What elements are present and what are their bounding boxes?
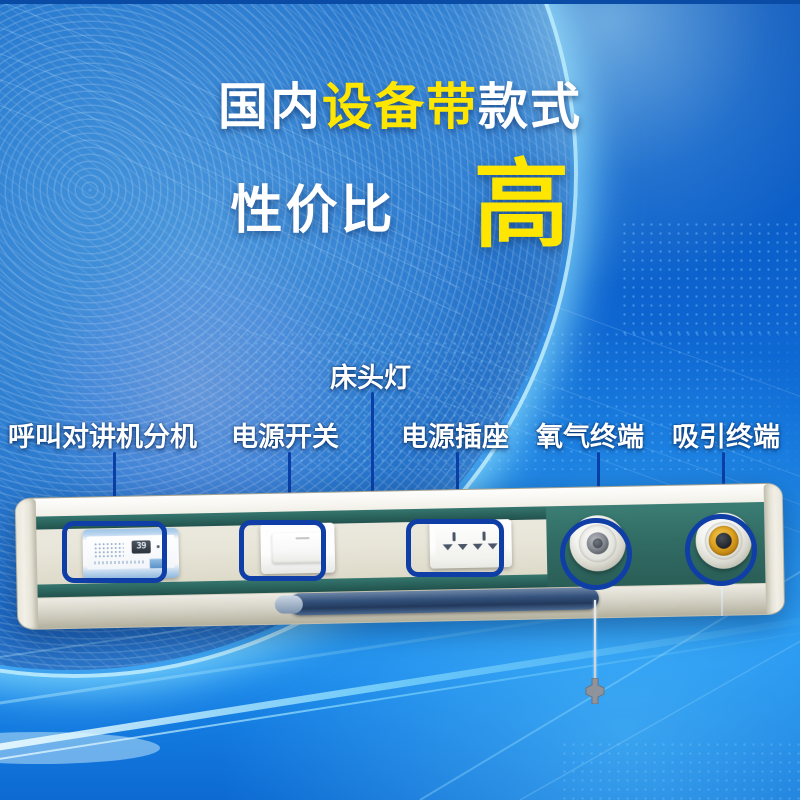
callout-label-intercom: 呼叫对讲机分机 bbox=[8, 415, 197, 454]
pull-cord[interactable] bbox=[594, 600, 596, 684]
callout-label-suction-terminal: 吸引终端 bbox=[672, 415, 780, 454]
headline-highlight: 设备带 bbox=[322, 78, 478, 136]
callout-label-power-outlet: 电源插座 bbox=[401, 415, 509, 454]
highlight-circle-suction-terminal bbox=[685, 514, 757, 586]
highlight-box-intercom bbox=[62, 521, 167, 583]
headline-part-1: 国内 bbox=[218, 78, 322, 136]
pull-cord-handle-icon[interactable] bbox=[583, 678, 607, 704]
headline-line-2: 性价比高 bbox=[0, 165, 800, 247]
callout-label-oxygen-terminal: 氧气终端 bbox=[536, 415, 644, 454]
panel-end-cap-left bbox=[15, 499, 39, 630]
highlight-box-power-outlet bbox=[406, 519, 504, 577]
headline-line-1: 国内设备带款式 bbox=[0, 82, 800, 132]
panel-end-cap-right bbox=[764, 484, 786, 616]
highlight-circle-oxygen-terminal bbox=[560, 518, 632, 590]
subheadline-text: 性价比 bbox=[230, 168, 395, 243]
subheadline-emphasis: 高 bbox=[474, 165, 570, 247]
top-edge-bar bbox=[0, 0, 800, 4]
headline-part-2: 款式 bbox=[478, 78, 582, 136]
promo-banner: 国内设备带款式 性价比高 呼叫对讲机分机 电源开关 床头灯 电源插座 氧气终端 … bbox=[0, 0, 800, 800]
callout-label-power-switch: 电源开关 bbox=[231, 415, 339, 454]
highlight-box-power-switch bbox=[239, 520, 326, 581]
pull-cord-secondary[interactable] bbox=[721, 588, 723, 616]
halftone-dots-bottom bbox=[560, 740, 800, 800]
handrail-left-joint bbox=[275, 595, 303, 614]
callout-label-bedside-lamp: 床头灯 bbox=[330, 356, 411, 395]
